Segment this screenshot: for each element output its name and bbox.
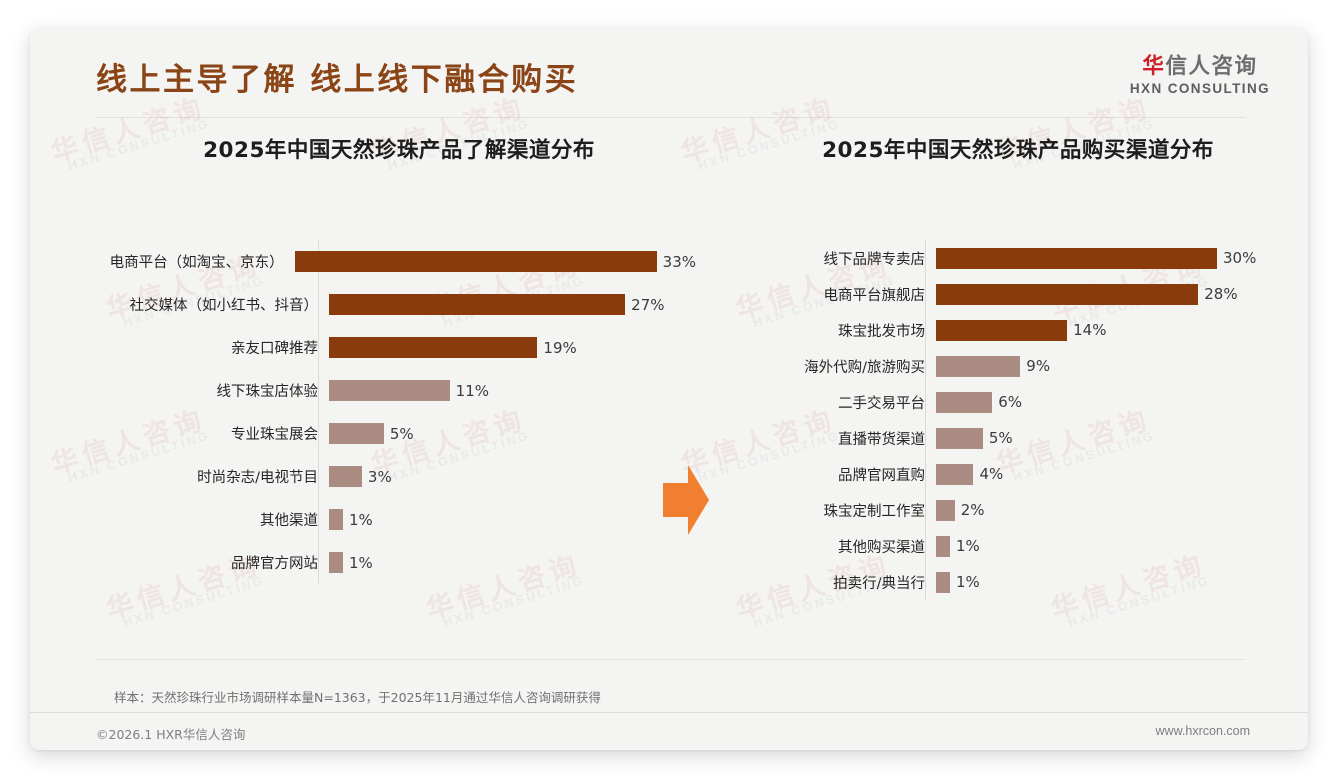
bar-category-label: 直播带货渠道 xyxy=(736,428,936,449)
bar xyxy=(936,248,1217,269)
bar-category-label: 电商平台（如淘宝、京东） xyxy=(96,251,295,272)
bar-container: 4% xyxy=(936,464,1296,485)
bar-row: 线下珠宝店体验11% xyxy=(96,369,696,412)
bar xyxy=(329,509,343,530)
bar-row: 海外代购/旅游购买9% xyxy=(736,348,1296,384)
bar-value-label: 9% xyxy=(1026,357,1050,375)
bar-category-label: 其他渠道 xyxy=(96,509,329,530)
bar-row: 直播带货渠道5% xyxy=(736,420,1296,456)
bar-container: 33% xyxy=(295,251,696,272)
bar-value-label: 1% xyxy=(956,573,980,591)
bar-value-label: 11% xyxy=(456,382,489,400)
bar-container: 1% xyxy=(329,552,696,573)
bar xyxy=(329,337,537,358)
bar-container: 1% xyxy=(936,572,1296,593)
bar-row: 拍卖行/典当行1% xyxy=(736,564,1296,600)
bar-value-label: 5% xyxy=(390,425,414,443)
logo-accent-char: 华 xyxy=(1142,54,1165,79)
bar-row: 线下品牌专卖店30% xyxy=(736,240,1296,276)
bar xyxy=(936,392,992,413)
bar-container: 19% xyxy=(329,337,696,358)
bar-row: 珠宝定制工作室2% xyxy=(736,492,1296,528)
bar-container: 9% xyxy=(936,356,1296,377)
bar-value-label: 33% xyxy=(663,253,696,271)
bar xyxy=(329,380,450,401)
bar xyxy=(329,466,362,487)
bar-row: 二手交易平台6% xyxy=(736,384,1296,420)
bar xyxy=(329,294,625,315)
bar xyxy=(936,536,950,557)
bar-category-label: 专业珠宝展会 xyxy=(96,423,329,444)
bar-category-label: 品牌官方网站 xyxy=(96,552,329,573)
bar-category-label: 亲友口碑推荐 xyxy=(96,337,329,358)
bar-container: 1% xyxy=(329,509,696,530)
header-divider xyxy=(96,117,1246,118)
slide-footer: ©2026.1 HXR华信人咨询 www.hxrcon.com xyxy=(30,712,1308,750)
website-link[interactable]: www.hxrcon.com xyxy=(1156,724,1250,738)
bar-container: 3% xyxy=(329,466,696,487)
footnote-divider xyxy=(96,659,1246,660)
bar-row: 专业珠宝展会5% xyxy=(96,412,696,455)
chart-title-purchase: 2025年中国天然珍珠产品购买渠道分布 xyxy=(736,133,1296,164)
bar-category-label: 海外代购/旅游购买 xyxy=(736,356,936,377)
bar-value-label: 6% xyxy=(998,393,1022,411)
bar-row: 时尚杂志/电视节目3% xyxy=(96,455,696,498)
bar-row: 其他购买渠道1% xyxy=(736,528,1296,564)
chart-panel-awareness: 2025年中国天然珍珠产品了解渠道分布 电商平台（如淘宝、京东）33%社交媒体（… xyxy=(96,133,696,584)
bar xyxy=(936,572,950,593)
bar-container: 2% xyxy=(936,500,1296,521)
bar xyxy=(936,500,955,521)
bar-category-label: 时尚杂志/电视节目 xyxy=(96,466,329,487)
bar-container: 6% xyxy=(936,392,1296,413)
bar-value-label: 4% xyxy=(979,465,1003,483)
slide-card: 华信人咨询HXN CONSULTING华信人咨询HXN CONSULTING华信… xyxy=(30,28,1308,750)
bar xyxy=(329,423,384,444)
bar-row: 珠宝批发市场14% xyxy=(736,312,1296,348)
chart-title-awareness: 2025年中国天然珍珠产品了解渠道分布 xyxy=(96,133,696,164)
bar-row: 亲友口碑推荐19% xyxy=(96,326,696,369)
bar xyxy=(329,552,343,573)
bar-value-label: 30% xyxy=(1223,249,1256,267)
bar-container: 11% xyxy=(329,380,696,401)
bar-value-label: 5% xyxy=(989,429,1013,447)
bar-row: 品牌官网直购4% xyxy=(736,456,1296,492)
bar-row: 其他渠道1% xyxy=(96,498,696,541)
bar-value-label: 1% xyxy=(349,554,373,572)
bar xyxy=(295,251,657,272)
bar-container: 28% xyxy=(936,284,1296,305)
bar-container: 30% xyxy=(936,248,1296,269)
company-logo: 华信人咨询 HXN CONSULTING xyxy=(1130,55,1270,96)
bar-container: 5% xyxy=(936,428,1296,449)
bar-category-label: 线下珠宝店体验 xyxy=(96,380,329,401)
footnote-text: 样本：天然珍珠行业市场调研样本量N=1363，于2025年11月通过华信人咨询调… xyxy=(114,687,601,706)
bar-value-label: 1% xyxy=(349,511,373,529)
bar-row: 电商平台（如淘宝、京东）33% xyxy=(96,240,696,283)
chart-plot-awareness: 电商平台（如淘宝、京东）33%社交媒体（如小红书、抖音）27%亲友口碑推荐19%… xyxy=(96,240,696,584)
bar-category-label: 社交媒体（如小红书、抖音） xyxy=(96,294,329,315)
bar-value-label: 3% xyxy=(368,468,392,486)
bar-value-label: 27% xyxy=(631,296,664,314)
slide-header: 线上主导了解 线上线下融合购买 华信人咨询 HXN CONSULTING xyxy=(30,28,1308,117)
bar xyxy=(936,464,973,485)
bar xyxy=(936,284,1198,305)
bar xyxy=(936,356,1020,377)
bar-category-label: 线下品牌专卖店 xyxy=(736,248,936,269)
bar-value-label: 19% xyxy=(543,339,576,357)
bar-category-label: 其他购买渠道 xyxy=(736,536,936,557)
bar-value-label: 28% xyxy=(1204,285,1237,303)
bar-category-label: 二手交易平台 xyxy=(736,392,936,413)
logo-english: HXN CONSULTING xyxy=(1130,81,1270,96)
bar-value-label: 14% xyxy=(1073,321,1106,339)
bar-category-label: 珠宝定制工作室 xyxy=(736,500,936,521)
copyright-text: ©2026.1 HXR华信人咨询 xyxy=(96,724,245,743)
bar-value-label: 1% xyxy=(956,537,980,555)
bar-container: 27% xyxy=(329,294,696,315)
bar-row: 社交媒体（如小红书、抖音）27% xyxy=(96,283,696,326)
logo-chinese-rest: 信人咨询 xyxy=(1165,54,1257,79)
page-title: 线上主导了解 线上线下融合购买 xyxy=(96,54,578,99)
bar xyxy=(936,428,983,449)
bar-container: 14% xyxy=(936,320,1296,341)
right-arrow-icon xyxy=(663,465,709,535)
bar-category-label: 电商平台旗舰店 xyxy=(736,284,936,305)
logo-chinese: 华信人咨询 xyxy=(1130,55,1270,80)
bar-row: 品牌官方网站1% xyxy=(96,541,696,584)
bar-category-label: 珠宝批发市场 xyxy=(736,320,936,341)
bar-row: 电商平台旗舰店28% xyxy=(736,276,1296,312)
bar-container: 5% xyxy=(329,423,696,444)
bar-category-label: 品牌官网直购 xyxy=(736,464,936,485)
chart-plot-purchase: 线下品牌专卖店30%电商平台旗舰店28%珠宝批发市场14%海外代购/旅游购买9%… xyxy=(736,240,1296,600)
bar-category-label: 拍卖行/典当行 xyxy=(736,572,936,593)
bar xyxy=(936,320,1067,341)
bar-value-label: 2% xyxy=(961,501,985,519)
chart-panel-purchase: 2025年中国天然珍珠产品购买渠道分布 线下品牌专卖店30%电商平台旗舰店28%… xyxy=(736,133,1296,600)
bar-container: 1% xyxy=(936,536,1296,557)
